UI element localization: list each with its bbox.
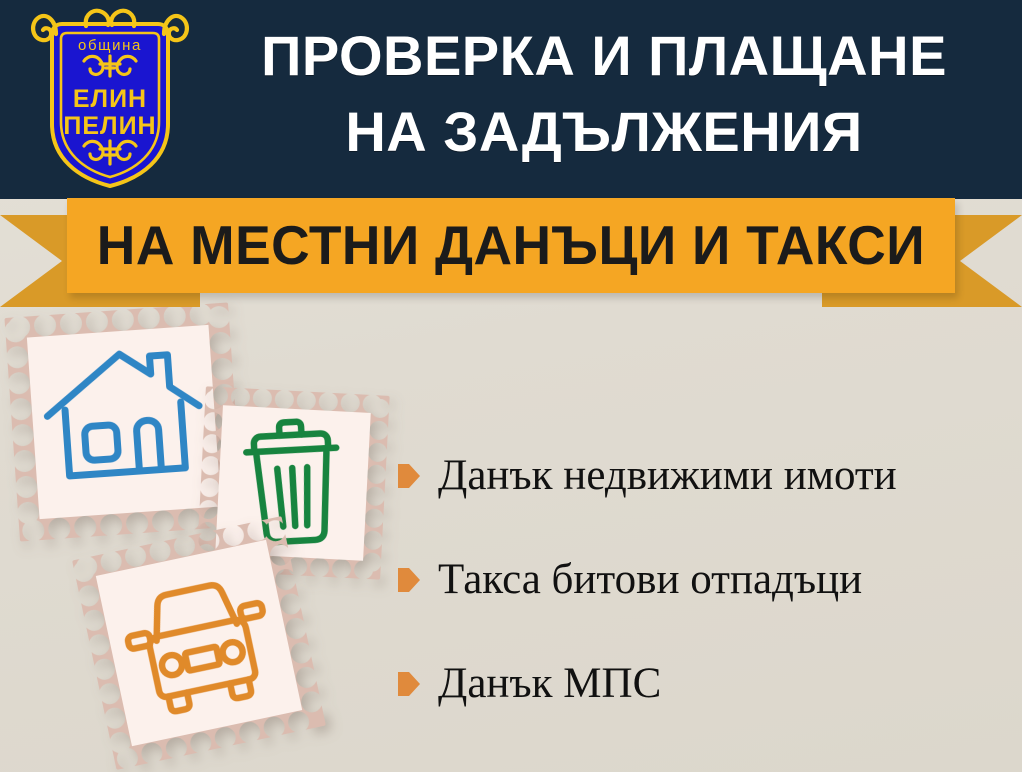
list-item-label: Такса битови отпадъци xyxy=(438,556,862,604)
page-title-line-2: НА ЗАДЪЛЖЕНИЯ xyxy=(200,94,1008,170)
municipality-crest-logo: община ЕЛИН ПЕЛИН xyxy=(22,6,198,194)
list-item[interactable]: Данък недвижими имоти xyxy=(398,424,1010,528)
ribbon-subtitle-text: НА МЕСТНИ ДАНЪЦИ И ТАКСИ xyxy=(97,218,925,273)
poster-canvas: община ЕЛИН ПЕЛИН ПРОВЕРКА И ПЛАЩАНЕ НА … xyxy=(0,0,1022,772)
arrow-bullet-icon xyxy=(398,464,420,488)
header-banner: община ЕЛИН ПЕЛИН ПРОВЕРКА И ПЛАЩАНЕ НА … xyxy=(0,0,1022,199)
list-item-label: Данък недвижими имоти xyxy=(438,452,897,500)
list-item[interactable]: Данък МПС xyxy=(398,632,1010,736)
stamp-card-car xyxy=(67,511,330,772)
crest-name-line1: ЕЛИН xyxy=(73,85,147,113)
arrow-bullet-icon xyxy=(398,672,420,696)
crest-name-line2: ПЕЛИН xyxy=(63,112,156,140)
subtitle-ribbon: НА МЕСТНИ ДАНЪЦИ И ТАКСИ xyxy=(0,198,1022,313)
tax-types-list: Данък недвижими имоти Такса битови отпад… xyxy=(398,424,1010,736)
page-title-line-1: ПРОВЕРКА И ПЛАЩАНЕ xyxy=(200,18,1008,94)
crest-top-label: община xyxy=(78,37,142,54)
list-item-label: Данък МПС xyxy=(438,660,661,708)
arrow-bullet-icon xyxy=(398,568,420,592)
ribbon-body: НА МЕСТНИ ДАНЪЦИ И ТАКСИ xyxy=(67,198,955,293)
header-title-block: ПРОВЕРКА И ПЛАЩАНЕ НА ЗАДЪЛЖЕНИЯ xyxy=(200,18,1008,170)
list-item[interactable]: Такса битови отпадъци xyxy=(398,528,1010,632)
stamp-illustrations-group xyxy=(0,300,420,772)
